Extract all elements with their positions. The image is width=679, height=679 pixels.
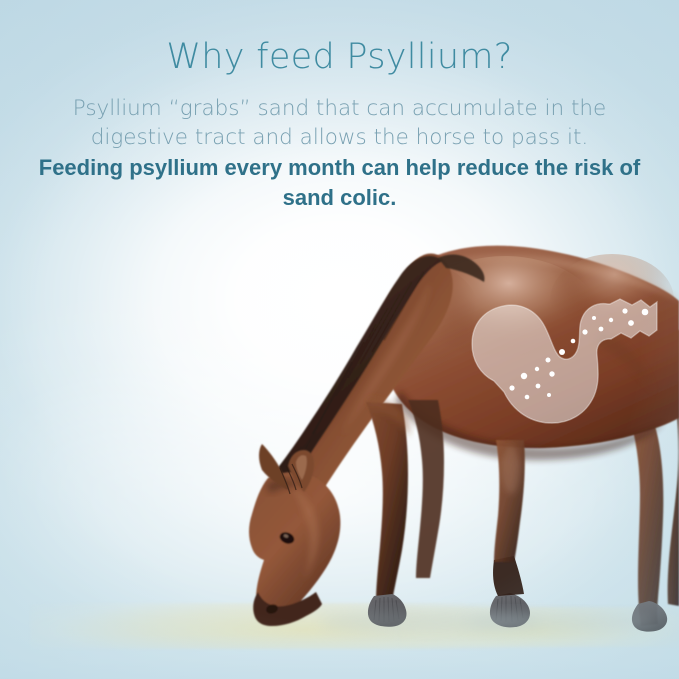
text-block: Why feed Psyllium? Psyllium “grabs” sand…: [0, 0, 679, 212]
paragraph-bold: Feeding psyllium every month can help re…: [20, 153, 660, 212]
horse-hind-cannon: [494, 440, 525, 562]
psyllium-infographic: Why feed Psyllium? Psyllium “grabs” sand…: [0, 0, 679, 679]
horse-front-leg-far: [408, 400, 444, 578]
horse-front-leg-near: [366, 398, 410, 602]
horse-head: [249, 472, 340, 626]
page-title: Why feed Psyllium?: [0, 0, 679, 77]
paragraph-light: Psyllium “grabs” sand that can accumulat…: [30, 95, 650, 152]
